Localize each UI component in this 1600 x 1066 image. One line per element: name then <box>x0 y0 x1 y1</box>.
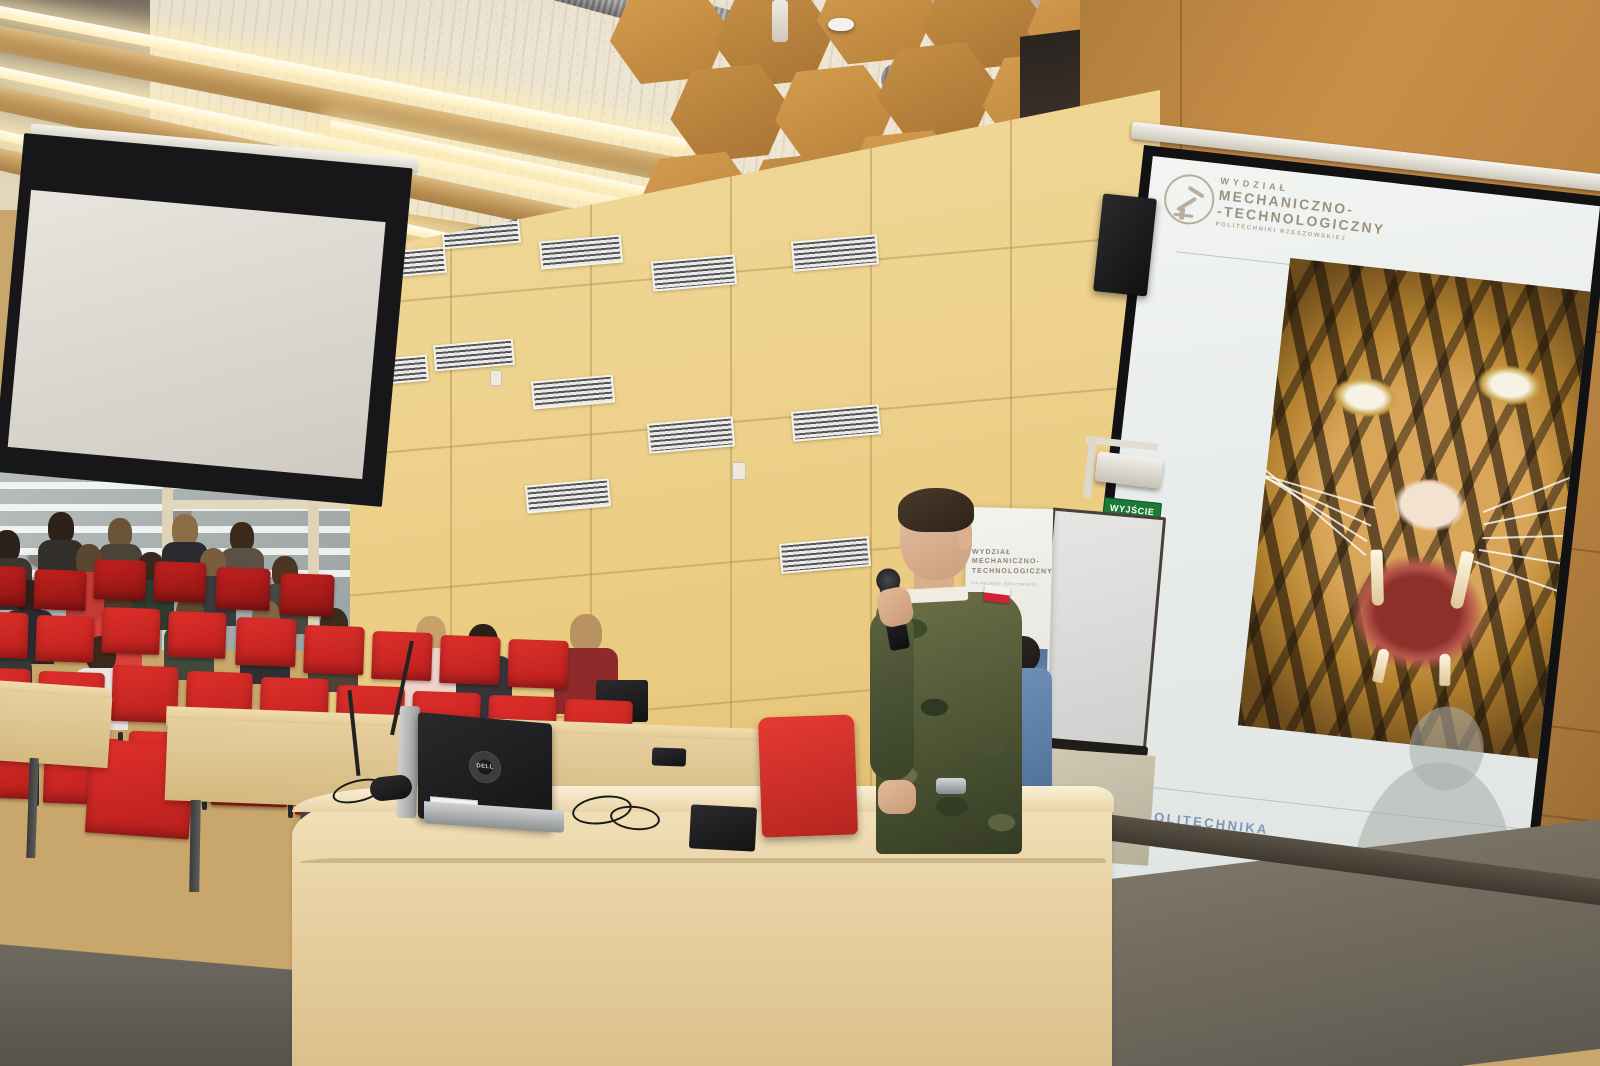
student-bench <box>0 690 112 768</box>
slide-image-tiger <box>1238 258 1600 763</box>
auditorium-seat <box>167 611 227 659</box>
auditorium-seat <box>0 565 27 607</box>
desk-device <box>689 804 757 851</box>
presenter <box>872 492 1032 852</box>
faculty-logo-text: WYDZIAŁ MECHANICZNO- -TECHNOLOGICZNY POL… <box>1215 176 1389 247</box>
smoke-detector-icon <box>828 18 854 31</box>
wall-speaker <box>1093 193 1157 296</box>
presenter-hand <box>878 780 916 814</box>
presenter-ear <box>958 530 972 550</box>
audience-person <box>570 614 602 652</box>
wall-ventilation-grille <box>791 404 881 442</box>
wristwatch-icon <box>936 778 966 794</box>
wall-ventilation-grille <box>433 339 515 372</box>
wall-ventilation-grille <box>539 234 623 269</box>
secondary-monitor-edge <box>396 706 420 819</box>
robotic-arm-logo-icon <box>1162 172 1217 227</box>
auditorium-seat <box>279 573 334 617</box>
polish-flag-patch-icon <box>983 584 1011 603</box>
auditorium-seat <box>235 617 297 667</box>
lectern-edge-line <box>300 858 1106 863</box>
tiger-photo <box>1238 258 1600 763</box>
wall-outlet-plate <box>490 370 502 386</box>
auditorium-seat <box>215 567 270 611</box>
lecture-hall-photo: WYDZIAŁ MECHANICZNO- -TECHNOLOGICZNY POL… <box>0 0 1600 1066</box>
auditorium-seat <box>35 615 95 663</box>
wall-ventilation-grille <box>779 536 871 574</box>
auditorium-seat <box>439 635 501 685</box>
presenter-hair <box>898 488 974 532</box>
wall-ventilation-grille <box>791 234 879 271</box>
presenter-chair <box>758 714 858 837</box>
wall-ventilation-grille <box>647 416 735 453</box>
auditorium-seat <box>93 559 146 601</box>
auditorium-seat <box>303 625 365 675</box>
desk-device-small <box>652 747 687 766</box>
bench-leg <box>189 800 201 892</box>
wall-outlet-plate <box>732 462 746 480</box>
wall-ventilation-grille <box>531 374 615 409</box>
auditorium-seat <box>101 607 161 655</box>
auditorium-seat <box>33 569 86 611</box>
dell-logo-icon <box>469 749 501 784</box>
auditorium-seat <box>507 639 569 689</box>
auditorium-seat <box>153 561 206 603</box>
wall-ventilation-grille <box>651 254 737 291</box>
pendant-light-fixture <box>772 0 788 42</box>
left-projection-screen <box>0 133 413 507</box>
auditorium-seat <box>0 611 29 659</box>
screen-blank-surface <box>8 190 386 479</box>
